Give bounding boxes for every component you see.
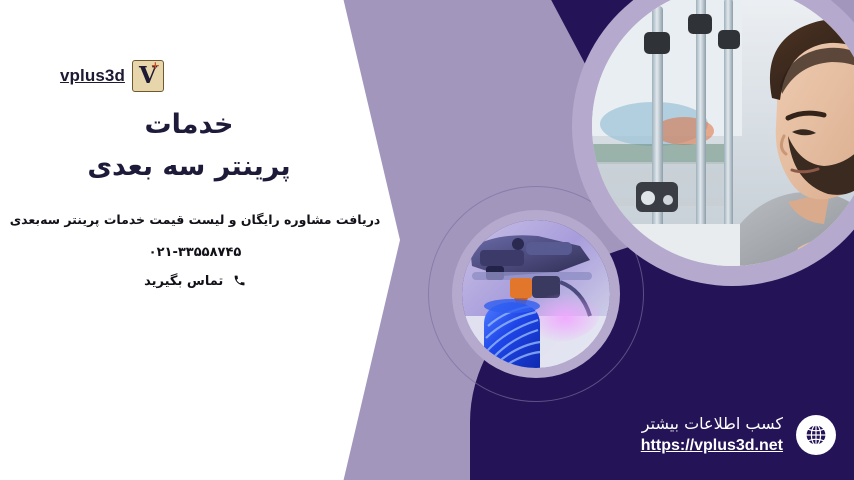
brand-logo[interactable]: V + vplus3d <box>60 60 164 92</box>
brand-name: vplus3d <box>60 66 125 86</box>
subcopy-text: دریافت مشاوره رایگان و لیست قیمت خدمات پ… <box>0 212 390 227</box>
footer-text: کسب اطلاعات بیشتر https://vplus3d.net <box>641 413 783 458</box>
call-cta-label: تماس بگیرید <box>144 274 223 289</box>
more-info-label: کسب اطلاعات بیشتر <box>641 413 783 436</box>
call-cta[interactable]: تماس بگیرید <box>0 274 390 291</box>
phone-handset-icon <box>233 274 246 291</box>
mini-photo <box>462 220 610 368</box>
headline-line-2: پرینتر سه بعدی <box>0 146 378 188</box>
website-link[interactable]: https://vplus3d.net <box>641 435 783 458</box>
headline-line-1: خدمات <box>0 104 378 146</box>
footer: کسب اطلاعات بیشتر https://vplus3d.net <box>641 413 836 458</box>
logo-plus-glyph: + <box>151 60 160 71</box>
globe-icon[interactable] <box>796 415 836 455</box>
banner-canvas: V + vplus3d خدمات پرینتر سه بعدی دریافت … <box>0 0 854 480</box>
phone-number[interactable]: ۰۲۱-۳۳۵۵۸۷۴۵ <box>0 245 390 260</box>
page-title: خدمات پرینتر سه بعدی <box>0 104 378 188</box>
vplus-v-mark-icon: V + <box>132 60 164 92</box>
